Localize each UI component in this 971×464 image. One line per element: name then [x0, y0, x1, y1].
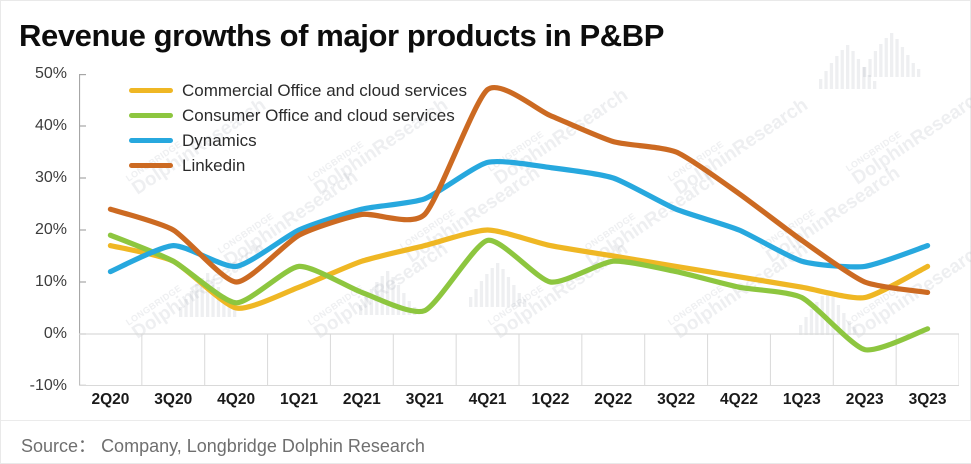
- legend-item-label: Consumer Office and cloud services: [182, 106, 455, 126]
- series-line[interactable]: [110, 235, 927, 350]
- legend-item[interactable]: Linkedin: [129, 153, 467, 178]
- series-line[interactable]: [110, 162, 927, 272]
- y-axis-tick-label: 30%: [9, 170, 67, 186]
- y-axis-labels: -10%0%10%20%30%40%50%: [1, 1, 67, 401]
- source-label: Source：: [21, 436, 96, 456]
- x-axis-tick-label: 3Q21: [393, 391, 456, 409]
- legend-item-label: Linkedin: [182, 156, 245, 176]
- source-note: Source： Company, Longbridge Dolphin Rese…: [21, 432, 425, 458]
- y-axis-tick-label: 0%: [9, 326, 67, 342]
- source-value: Company, Longbridge Dolphin Research: [101, 436, 425, 456]
- x-axis-tick-label: 4Q21: [456, 391, 519, 409]
- x-axis-tick-label: 1Q21: [268, 391, 331, 409]
- x-axis-tick-label: 3Q23: [896, 391, 959, 409]
- y-axis-tick-label: -10%: [9, 378, 67, 394]
- x-axis-tick-label: 2Q22: [582, 391, 645, 409]
- x-axis-tick-label: 1Q23: [770, 391, 833, 409]
- y-axis-tick-label: 40%: [9, 118, 67, 134]
- legend-item-label: Commercial Office and cloud services: [182, 81, 467, 101]
- x-axis-tick-label: 3Q22: [645, 391, 708, 409]
- chart-legend: Commercial Office and cloud servicesCons…: [129, 78, 467, 178]
- x-axis-tick-label: 2Q20: [79, 391, 142, 409]
- chart-title: Revenue growths of major products in P&B…: [19, 18, 664, 54]
- legend-color-swatch: [129, 88, 173, 93]
- x-axis-tick-label: 3Q20: [142, 391, 205, 409]
- legend-item-label: Dynamics: [182, 131, 257, 151]
- chart-figure: Revenue growths of major products in P&B…: [0, 0, 971, 464]
- y-axis-tick-label: 10%: [9, 274, 67, 290]
- x-axis-tick-label: 4Q22: [708, 391, 771, 409]
- y-axis-tick-label: 20%: [9, 222, 67, 238]
- chart-footer: Source： Company, Longbridge Dolphin Rese…: [1, 420, 971, 463]
- legend-item[interactable]: Dynamics: [129, 128, 467, 153]
- legend-item[interactable]: Consumer Office and cloud services: [129, 103, 467, 128]
- x-axis-labels: 2Q203Q204Q201Q212Q213Q214Q211Q222Q223Q22…: [79, 391, 959, 415]
- legend-color-swatch: [129, 163, 173, 168]
- legend-color-swatch: [129, 138, 173, 143]
- x-axis-tick-label: 1Q22: [519, 391, 582, 409]
- y-axis-tick-label: 50%: [9, 66, 67, 82]
- legend-color-swatch: [129, 113, 173, 118]
- x-axis-tick-label: 2Q21: [330, 391, 393, 409]
- x-axis-tick-label: 4Q20: [205, 391, 268, 409]
- x-axis-tick-label: 2Q23: [833, 391, 896, 409]
- legend-item[interactable]: Commercial Office and cloud services: [129, 78, 467, 103]
